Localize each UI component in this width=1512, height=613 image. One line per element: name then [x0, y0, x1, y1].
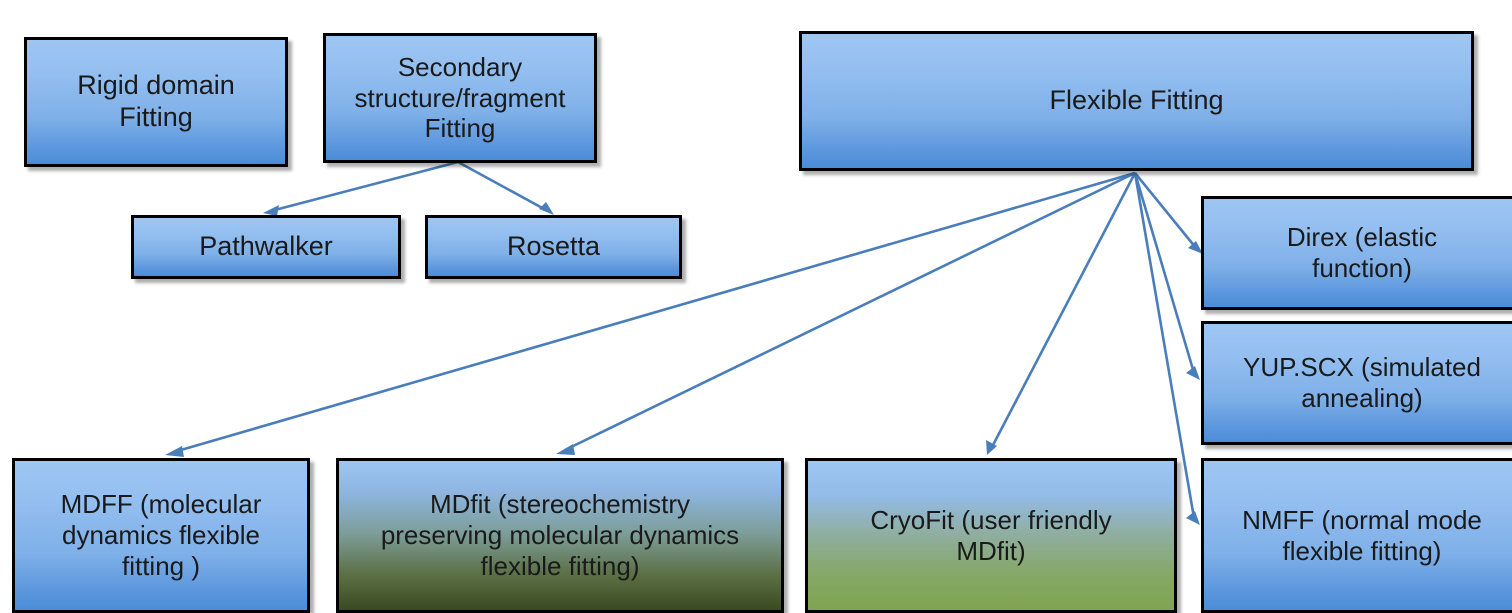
node-mdff[interactable]: MDFF (molecular dynamics flexible fittin…: [12, 458, 310, 613]
diagram-canvas: Rigid domain Fitting Secondary structure…: [0, 0, 1512, 610]
node-pathwalker[interactable]: Pathwalker: [131, 215, 401, 279]
node-rigid-domain-fitting[interactable]: Rigid domain Fitting: [24, 37, 288, 167]
edge-line: [1135, 173, 1194, 373]
edge-line: [271, 162, 458, 211]
node-nmff[interactable]: NMFF (normal mode flexible fitting): [1201, 458, 1512, 613]
node-mdfit[interactable]: MDfit (stereochemistry preserving molecu…: [336, 458, 784, 613]
edge-line: [458, 162, 546, 210]
arrow-head: [986, 440, 997, 455]
edge-line: [1135, 173, 1196, 248]
arrow-head: [539, 202, 554, 215]
arrow-head: [165, 446, 184, 457]
node-yup-scx[interactable]: YUP.SCX (simulated annealing): [1201, 321, 1512, 445]
edge-flexible-to-direx: [1135, 173, 1203, 254]
node-rosetta[interactable]: Rosetta: [425, 215, 682, 279]
edge-secondary-to-pathwalker: [263, 162, 458, 216]
arrow-head: [1186, 366, 1200, 380]
edge-line: [992, 173, 1135, 447]
edge-secondary-to-rosetta: [458, 162, 554, 215]
arrow-head: [556, 444, 575, 455]
node-flexible-fitting[interactable]: Flexible Fitting: [799, 31, 1474, 171]
edge-flexible-to-cryofit: [986, 173, 1135, 455]
node-direx[interactable]: Direx (elastic function): [1201, 196, 1512, 310]
node-cryofit[interactable]: CryoFit (user friendly MDfit): [805, 458, 1177, 613]
node-secondary-structure-fitting[interactable]: Secondary structure/fragment Fitting: [323, 33, 597, 163]
edge-flexible-to-yupscx: [1135, 173, 1200, 380]
arrow-head: [1186, 511, 1200, 525]
